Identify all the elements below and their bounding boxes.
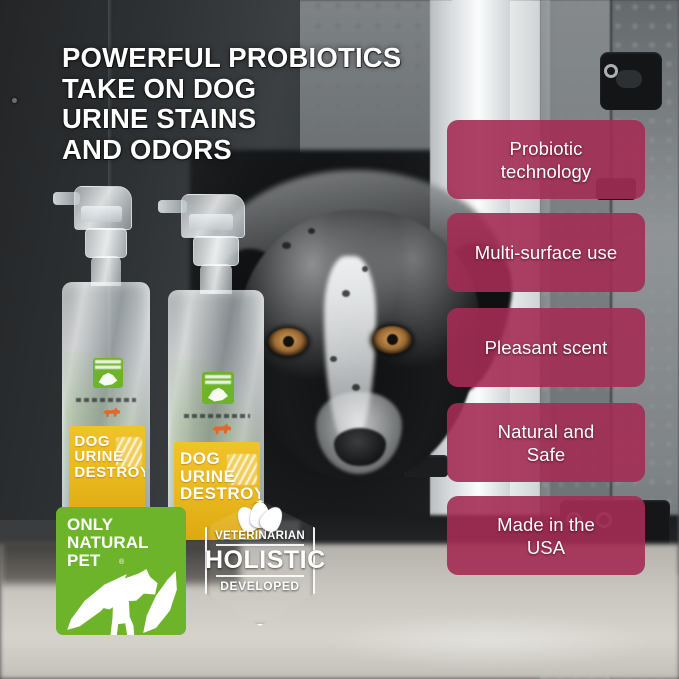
bottle-tagline-rear xyxy=(76,398,136,402)
badge-divider-bottom xyxy=(216,575,304,577)
feature-badge-made-in-the-usa: Made in the USA xyxy=(447,496,645,575)
spray-trigger-rear xyxy=(62,182,150,256)
bottle-label-line3-rear: DESTROYER xyxy=(74,465,145,481)
feature-badge-natural-and-safe: Natural and Safe xyxy=(447,403,645,482)
badge-top-text: VETERINARIAN xyxy=(205,530,315,542)
feature-badge-multi-surface-use: Multi-surface use xyxy=(447,213,645,292)
bottle-brand-logo-front xyxy=(202,372,234,404)
bottle-label-line2-rear: URINE xyxy=(74,449,145,465)
badge-main-text: HOLISTIC xyxy=(205,546,315,575)
bottle-label-line2-front: URINE xyxy=(180,468,260,486)
floor-reflection xyxy=(320,611,660,671)
screw-icon xyxy=(12,98,17,103)
feature-badge-probiotic-technology: Probiotic technology xyxy=(447,120,645,199)
veterinarian-holistic-developed-badge: VETERINARIAN HOLISTIC DEVELOPED xyxy=(205,500,315,626)
spray-trigger-front xyxy=(168,190,264,264)
bottle-label-line1-rear: DOG xyxy=(74,434,145,450)
brand-logo-text: ONLY NATURAL PET xyxy=(67,516,149,570)
registered-trademark-icon: ® xyxy=(119,559,124,566)
product-bottle-rear: DOG URINE DESTROYER xyxy=(62,282,150,520)
brand-logo: ONLY NATURAL PET ® xyxy=(56,507,186,635)
bottle-tagline-front xyxy=(184,414,250,418)
leaf-icon xyxy=(237,502,283,530)
bottle-label-rear: DOG URINE DESTROYER xyxy=(69,426,145,520)
bottle-brand-logo-rear xyxy=(93,358,123,388)
bottle-label-line1-front: DOG xyxy=(180,450,260,468)
product-advertisement-image: DOG URINE DESTROYER xyxy=(0,0,679,679)
dog-eye-right xyxy=(372,326,412,354)
badge-bottom-text: DEVELOPED xyxy=(205,579,315,593)
latch-ring-icon xyxy=(604,64,618,78)
bottle-body-rear: DOG URINE DESTROYER xyxy=(62,282,150,520)
feature-badge-pleasant-scent: Pleasant scent xyxy=(447,308,645,387)
headline: POWERFUL PROBIOTICS TAKE ON DOG URINE ST… xyxy=(62,43,482,165)
dog-eye-left xyxy=(268,328,308,356)
latch-icon xyxy=(600,52,662,110)
